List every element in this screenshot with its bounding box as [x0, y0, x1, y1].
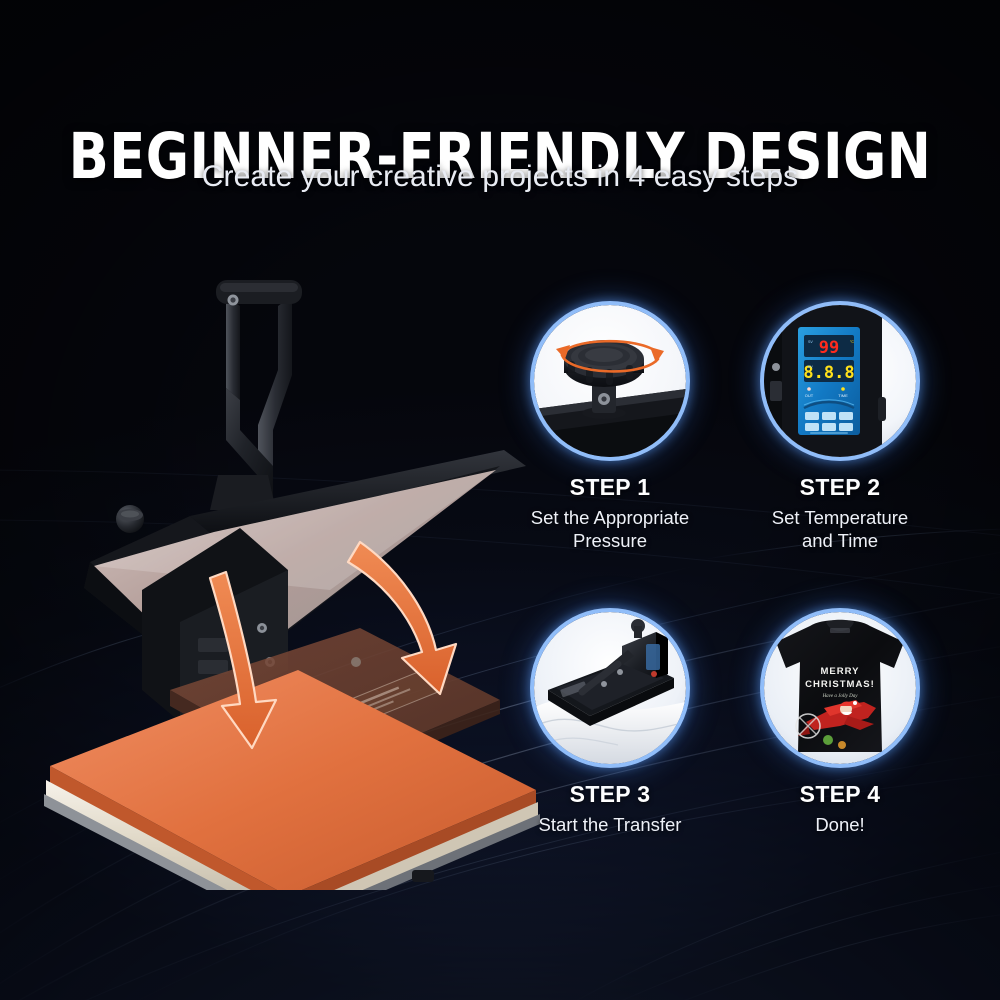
- shirt-text-line1: MERRY: [821, 666, 860, 677]
- temperature-value: 99: [819, 338, 839, 358]
- shirt-text-line3: Have a Jolly Day: [822, 694, 859, 699]
- out-indicator-led: [807, 387, 811, 391]
- step-4-desc-line1: Done!: [750, 813, 930, 836]
- control-display: [646, 644, 660, 670]
- press-handle: [210, 280, 302, 510]
- svg-text:SV: SV: [808, 340, 813, 344]
- step-3-desc: Start the Transfer: [520, 813, 700, 836]
- step-3-title: STEP 3: [520, 781, 700, 808]
- step-1-desc-line2: Pressure: [520, 529, 700, 552]
- step-3-desc-line1: Start the Transfer: [520, 813, 700, 836]
- panel-button-1: [805, 412, 819, 420]
- gift-ball-green: [823, 735, 833, 745]
- step-2-desc-line2: and Time: [750, 529, 930, 552]
- time-indicator-led: [841, 387, 845, 391]
- svg-text:PV: PV: [808, 365, 813, 369]
- power-button: [651, 671, 657, 677]
- out-indicator-label: OUT: [805, 393, 814, 398]
- page-subtitle: Create your creative projects in 4 easy …: [0, 160, 1000, 194]
- step-4-desc: Done!: [750, 813, 930, 836]
- step-1-desc: Set the Appropriate Pressure: [520, 506, 700, 553]
- shirt-text-line2: CHRISTMAS!: [805, 679, 875, 690]
- step-card-3: STEP 3 Start the Transfer: [520, 612, 700, 836]
- step-2-desc: Set Temperature and Time: [750, 506, 930, 553]
- pressure-knob-icon: [564, 340, 644, 387]
- step-2-title: STEP 2: [750, 474, 930, 501]
- step-card-4: MERRY CHRISTMAS! Have a Jolly Day: [750, 612, 930, 836]
- neck-label: [830, 628, 850, 633]
- step-4-image: MERRY CHRISTMAS! Have a Jolly Day: [764, 612, 916, 764]
- step-2-desc-line1: Set Temperature: [750, 506, 930, 529]
- step-card-1: STEP 1 Set the Appropriate Pressure: [520, 305, 700, 553]
- panel-button-6: [839, 423, 853, 431]
- step-2-image: 99 SV °C 8.8.8 PV S OUT TIME: [764, 305, 916, 457]
- step-card-2: 99 SV °C 8.8.8 PV S OUT TIME: [750, 305, 930, 553]
- panel-button-2: [822, 412, 836, 420]
- product-image-heat-press: VEVOR: [30, 270, 550, 890]
- step-1-image: [534, 305, 686, 457]
- product-marketing-image: BEGINNER-FRIENDLY DESIGN Create your cre…: [0, 0, 1000, 1000]
- control-panel-icon: 99 SV °C 8.8.8 PV S OUT TIME: [798, 327, 860, 435]
- panel-button-5: [822, 423, 836, 431]
- panel-button-3: [839, 412, 853, 420]
- time-indicator-label: TIME: [838, 393, 848, 398]
- panel-button-4: [805, 423, 819, 431]
- step-1-desc-line1: Set the Appropriate: [520, 506, 700, 529]
- gift-ball-gold: [838, 741, 846, 749]
- svg-text:°C: °C: [850, 340, 854, 344]
- step-3-image: [534, 612, 686, 764]
- step-1-title: STEP 1: [520, 474, 700, 501]
- step-4-title: STEP 4: [750, 781, 930, 808]
